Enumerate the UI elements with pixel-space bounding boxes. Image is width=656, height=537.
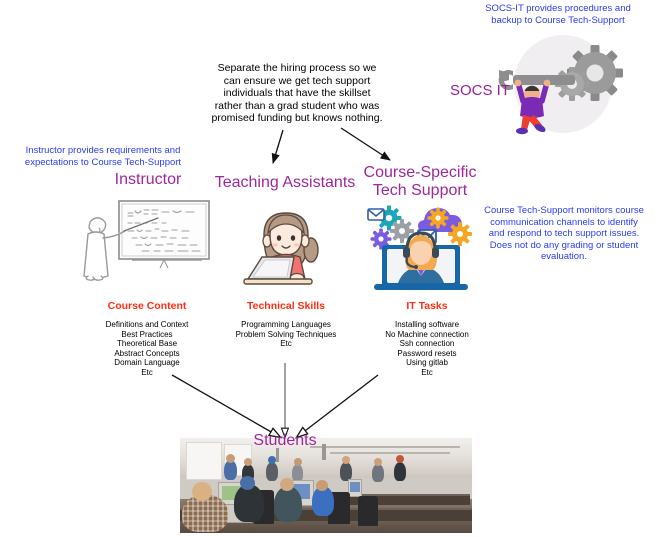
professor-at-blackboard-sketch-icon [72, 198, 214, 294]
students-photo [180, 438, 472, 533]
list-item: Theoretical Base [73, 339, 221, 349]
photo-ceiling-fixture [276, 448, 279, 462]
photo-person [224, 460, 237, 480]
diagram-canvas: SOCS-IT provides procedures and backup t… [0, 0, 656, 537]
photo-person-head [316, 480, 328, 491]
photo-person [372, 464, 384, 482]
note-hiring-process: Separate the hiring process so we can en… [211, 62, 383, 125]
photo-person-head [294, 458, 302, 466]
photo-person-head [342, 456, 350, 464]
photo-chair [358, 496, 378, 526]
photo-person [274, 486, 302, 522]
list-item: Best Practices [73, 330, 221, 340]
column-heading-course-content: Course Content [73, 300, 221, 312]
photo-ceiling-beam [330, 452, 450, 454]
list-item: Etc [216, 339, 356, 349]
note-socs-it-backup: SOCS-IT provides procedures and backup t… [470, 3, 646, 26]
role-title-teaching-assistants: Teaching Assistants [205, 174, 365, 192]
column-heading-it-tasks: IT Tasks [356, 300, 498, 312]
column-heading-technical-skills: Technical Skills [216, 300, 356, 312]
list-item: No Machine connection [356, 330, 498, 340]
photo-person-head [374, 458, 382, 466]
instructor-illustration [72, 198, 214, 294]
photo-person-head [244, 458, 252, 466]
role-title-instructor: Instructor [78, 171, 218, 189]
note-tech-support-responsibilities: Course Tech-Support monitors course comm… [482, 205, 646, 263]
photo-person-head [192, 482, 212, 501]
role-title-line-1: Course-Specific [357, 164, 483, 182]
photo-person [266, 462, 278, 481]
photo-monitor [348, 479, 362, 497]
photo-person-head [268, 456, 276, 464]
list-item: Ssh connection [356, 339, 498, 349]
photo-person-head [226, 454, 235, 463]
list-item: Password resets [356, 349, 498, 359]
tech-support-illustration [362, 196, 480, 294]
list-item: Definitions and Context [73, 320, 221, 330]
photo-person-head [240, 476, 255, 490]
list-item: Problem Solving Techniques [216, 330, 356, 340]
photo-person-head [396, 455, 404, 463]
list-item: Abstract Concepts [73, 349, 221, 359]
list-item: Programming Languages [216, 320, 356, 330]
student-at-laptop-cartoon-icon [234, 205, 338, 293]
photo-person [394, 462, 406, 481]
list-item: Etc [356, 368, 498, 378]
photo-person-head [280, 478, 294, 491]
photo-window [186, 442, 222, 480]
arrow-note-to-tech-support [341, 128, 390, 160]
column-list-technical-skills: Programming Languages Problem Solving Te… [216, 320, 356, 349]
arrow-it-tasks-to-students [297, 375, 378, 437]
arrow-note-to-tas [273, 130, 283, 163]
support-agent-headset-laptop-icon [362, 196, 480, 294]
arrow-course-content-to-students [172, 375, 280, 437]
teaching-assistant-illustration [234, 205, 338, 293]
role-title-course-specific-tech-support: Course-Specific Tech Support [357, 164, 483, 200]
list-item: Using gitlab [356, 358, 498, 368]
column-list-course-content: Definitions and Context Best Practices T… [73, 320, 221, 378]
list-item: Installing software [356, 320, 498, 330]
list-item: Domain Language [73, 358, 221, 368]
students-label: Students [230, 432, 340, 450]
list-item: Etc [73, 368, 221, 378]
column-list-it-tasks: Installing software No Machine connectio… [356, 320, 498, 378]
note-instructor-requirements: Instructor provides requirements and exp… [8, 145, 198, 168]
socs-it-label: SOCS IT [440, 82, 520, 99]
